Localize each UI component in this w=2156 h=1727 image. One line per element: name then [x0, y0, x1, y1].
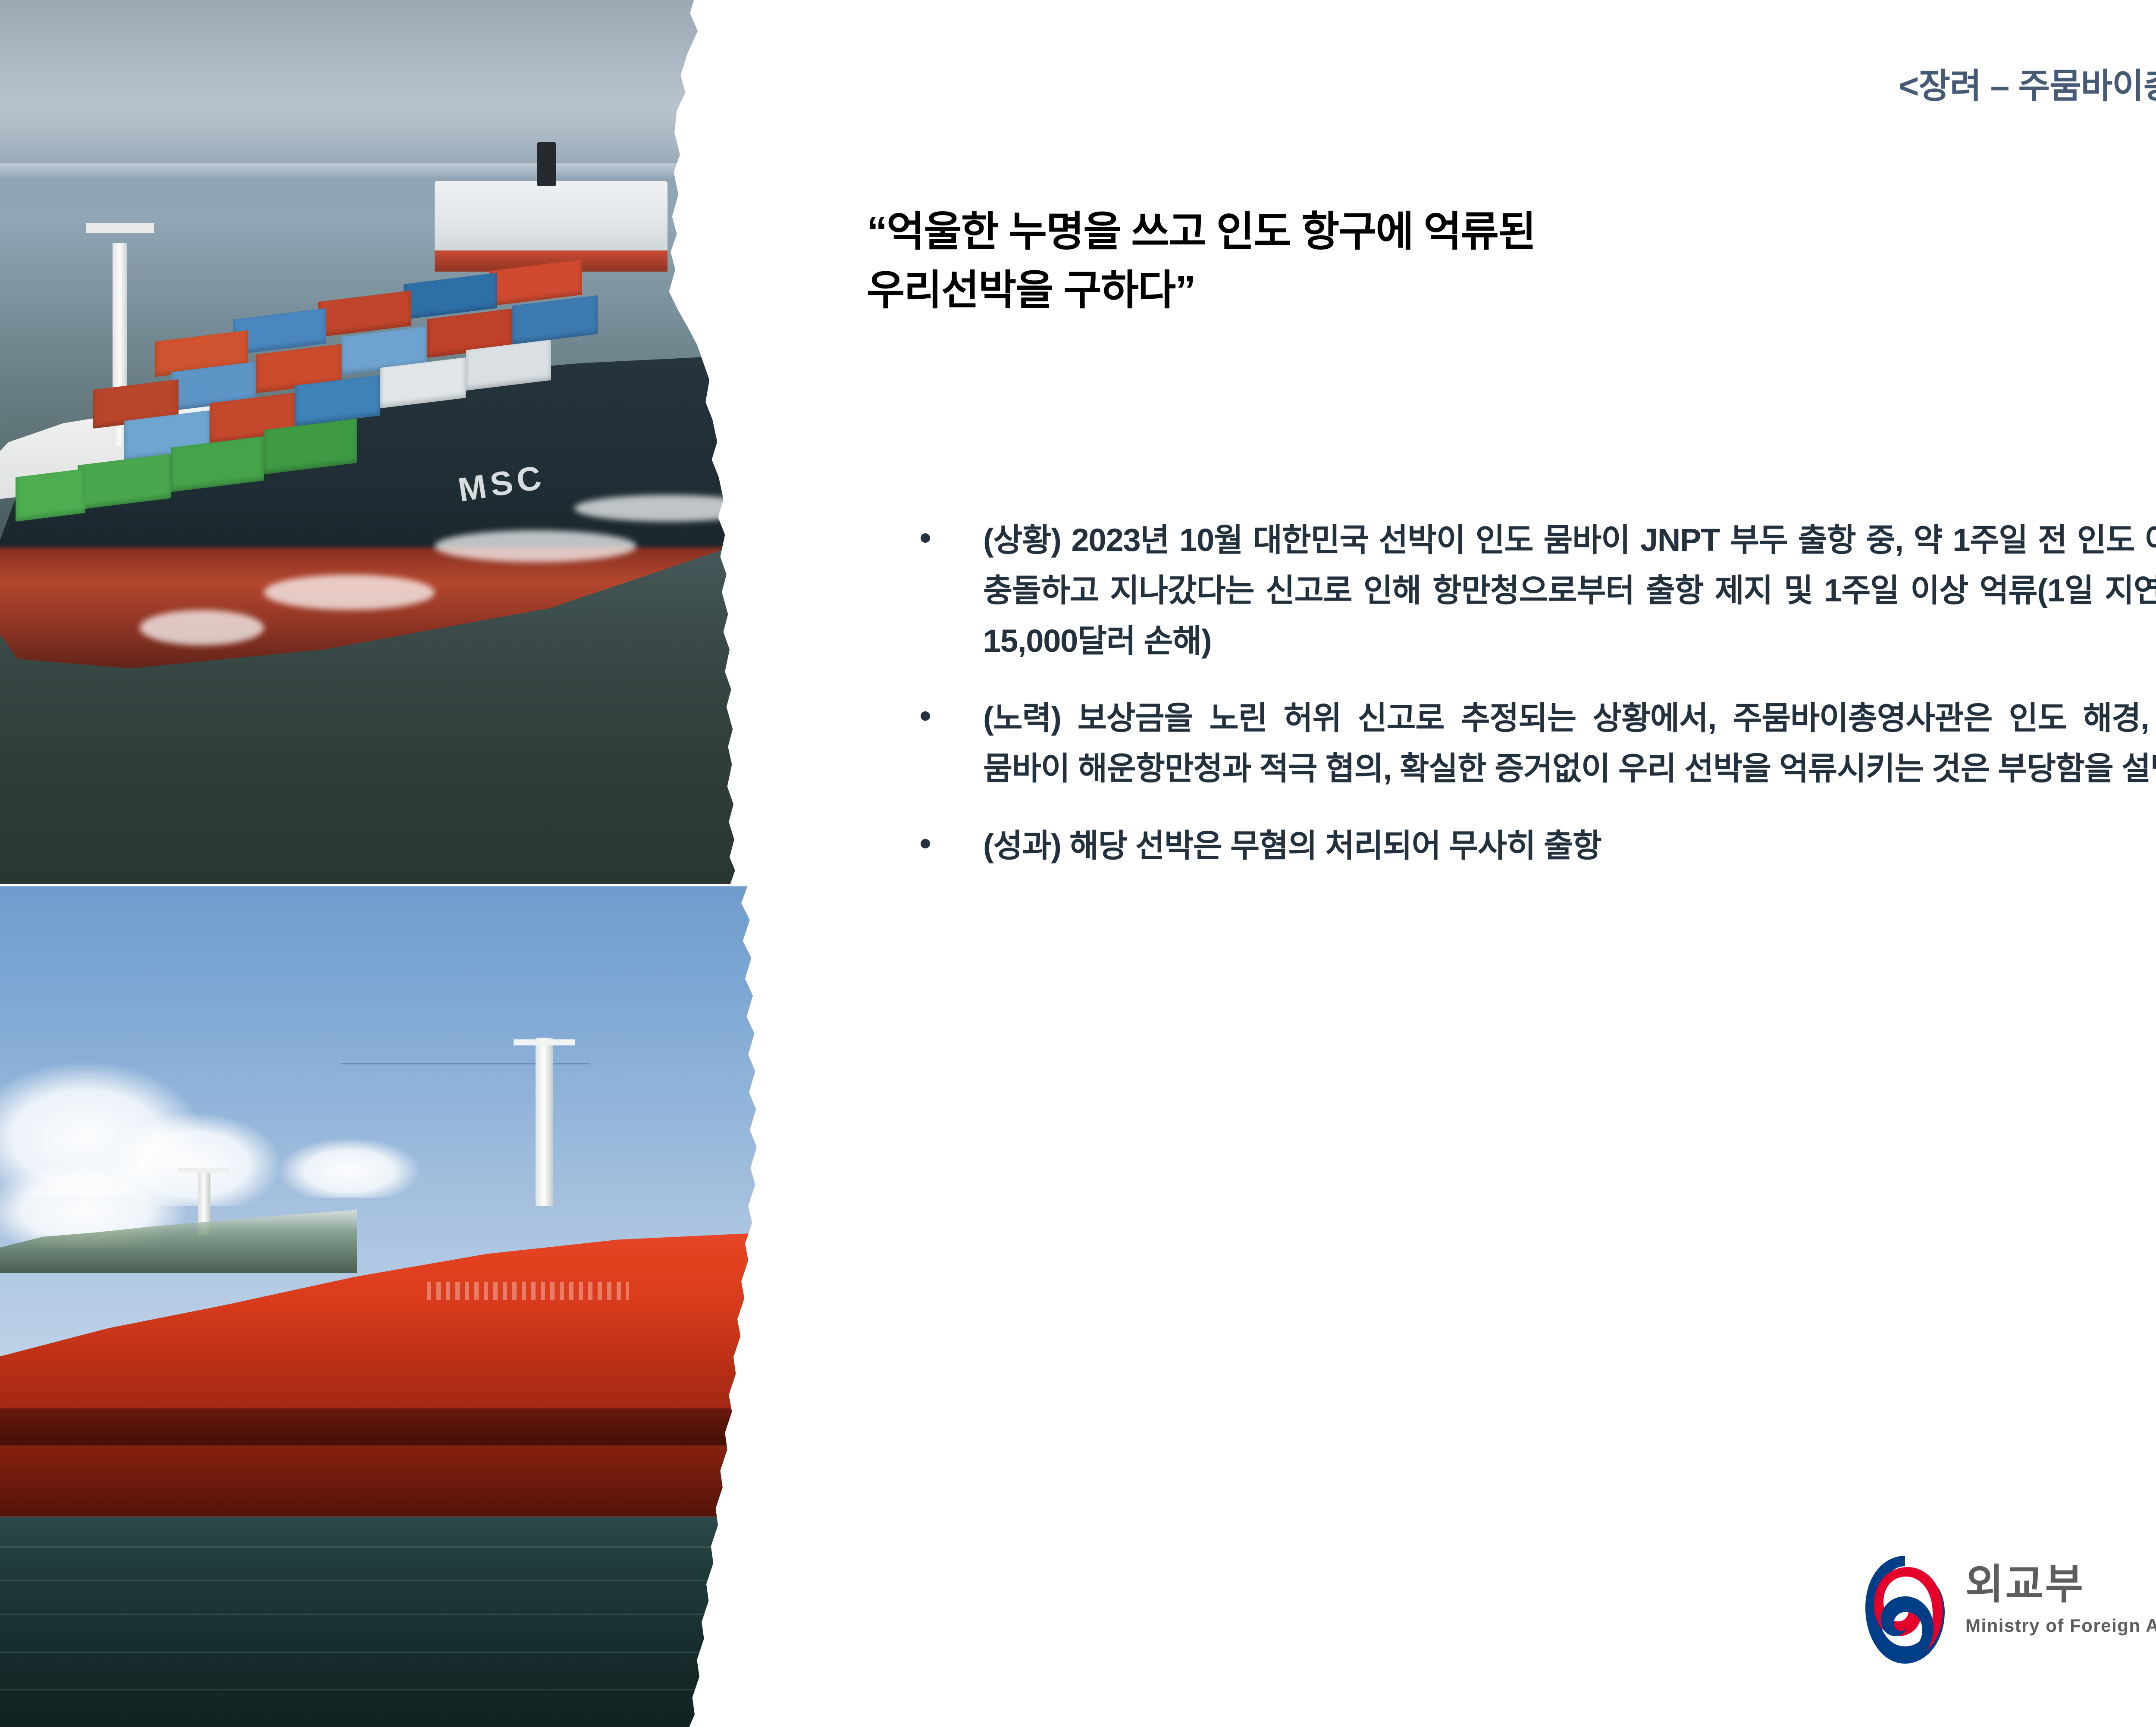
- sea-water: [0, 1517, 776, 1727]
- water-ripple: [0, 1689, 776, 1690]
- bow-wave-spray: [264, 575, 435, 610]
- red-tanker-photo: [0, 886, 776, 1727]
- bullet-list: (상황) 2023년 10월 대한민국 선박이 인도 뭄바이 JNPT 부두 출…: [869, 515, 2156, 871]
- bow-wave-spray: [574, 495, 761, 522]
- water-ripple: [0, 1614, 776, 1615]
- list-item-text: (노력) 보상금을 노린 허위 신고로 추정되는 상황에서, 주뭄바이총영사관은…: [983, 693, 2156, 794]
- content-column: <장려 – 주뭄바이총영사관> “억울한 누명을 쓰고 인도 항구에 억류된 우…: [802, 0, 2156, 1727]
- bullet-dot-icon: [921, 711, 930, 721]
- water-ripple: [0, 1546, 776, 1548]
- bullet-dot-icon: [921, 533, 930, 543]
- horizon-line: [0, 163, 776, 178]
- container-stack: [16, 469, 85, 521]
- bullet-dot-icon: [921, 839, 930, 848]
- list-item: (상황) 2023년 10월 대한민국 선박이 인도 뭄바이 JNPT 부두 출…: [869, 515, 2156, 666]
- distant-vessel: [435, 181, 667, 252]
- list-item: (노력) 보상금을 노린 허위 신고로 추정되는 상황에서, 주뭄바이총영사관은…: [869, 693, 2156, 794]
- logo-wordmark: 외교부 Ministry of Foreign Affairs: [1965, 1564, 2156, 1635]
- water-ripple: [0, 1652, 776, 1653]
- hull-nameplate: [427, 1282, 629, 1300]
- photo-column: MSC: [0, 0, 776, 1727]
- page-title-line-2: 우리선박을 구하다”: [867, 261, 2156, 320]
- hull-shadow: [0, 1408, 776, 1445]
- list-item-text: (성과) 해당 선박은 무혐의 처리되어 무사히 출항: [983, 821, 2156, 871]
- page-title: “억울한 누명을 쓰고 인도 항구에 억류된 우리선박을 구하다”: [867, 203, 2156, 320]
- bow-wave-spray: [140, 610, 264, 645]
- water-ripple: [0, 1580, 776, 1581]
- page-title-line-1: “억울한 누명을 쓰고 인도 항구에 억류된: [867, 203, 2156, 261]
- container-ship-photo: MSC: [0, 0, 776, 884]
- list-item-text: (상황) 2023년 10월 대한민국 선박이 인도 뭄바이 JNPT 부두 출…: [983, 515, 2156, 666]
- award-category-header: <장려 – 주뭄바이총영사관>: [1899, 58, 2156, 108]
- list-item: (성과) 해당 선박은 무혐의 처리되어 무사히 출항: [869, 821, 2156, 871]
- logo-korean-name: 외교부: [1965, 1564, 2156, 1605]
- taegeuk-icon: [1863, 1554, 1947, 1665]
- slide-canvas: MSC: [0, 0, 2156, 1727]
- ministry-logo: 외교부 Ministry of Foreign Affairs: [1863, 1552, 2156, 1681]
- ship-mast-tower: [536, 1038, 553, 1206]
- bow-wave-spray: [435, 530, 636, 562]
- logo-english-name: Ministry of Foreign Affairs: [1965, 1617, 2156, 1635]
